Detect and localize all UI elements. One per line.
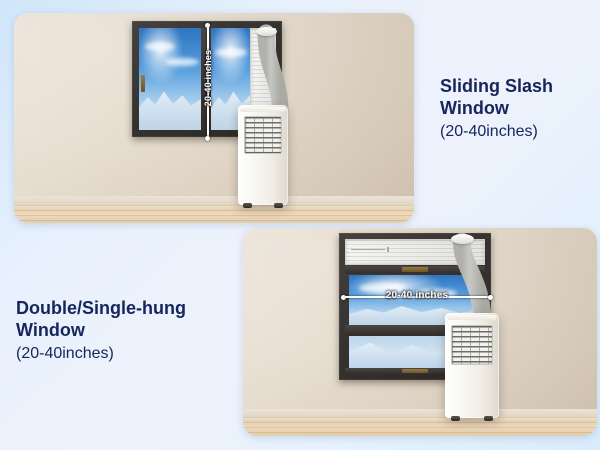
caption-line-2: Window — [440, 98, 596, 120]
floor — [243, 417, 597, 436]
cloud-icon — [165, 58, 199, 66]
mountain-silhouette — [139, 83, 201, 130]
floor — [14, 205, 414, 223]
caption-sliding-slash-window: Sliding Slash Window (20-40inches) — [440, 76, 596, 141]
window-pane-left — [139, 28, 201, 130]
dimension-label: 20-40 inches — [341, 290, 493, 301]
caption-line-1: Sliding Slash — [440, 76, 596, 98]
ac-top-panel — [240, 107, 286, 112]
panel-sliding-slash-window: 20-40 inches — [14, 13, 414, 223]
ac-foot — [484, 416, 493, 421]
ac-top-panel — [447, 315, 497, 320]
portable-air-conditioner — [238, 105, 288, 205]
caption-line-1: Double/Single-hung — [16, 298, 241, 320]
caption-double-single-hung-window: Double/Single-hung Window (20-40inches) — [16, 298, 241, 363]
ac-foot — [274, 203, 283, 208]
hose-collar-window — [451, 234, 474, 244]
dimension-endpoint-bottom — [205, 136, 210, 141]
window-handle-left — [141, 75, 145, 92]
cloud-icon — [145, 42, 175, 51]
ac-foot — [243, 203, 252, 208]
dimension-label: 20-40 inches — [203, 47, 213, 109]
window-handle-lower — [402, 369, 428, 373]
dimension-vertical-sliding: 20-40 inches — [200, 23, 216, 141]
hose-collar-window — [256, 27, 277, 36]
dimension-horizontal-hung: 20-40 inches — [341, 290, 493, 304]
window-handle-upper — [402, 267, 428, 272]
ac-foot — [451, 416, 460, 421]
caption-line-3: (20-40inches) — [16, 344, 241, 364]
caption-line-2: Window — [16, 320, 241, 342]
screenshot-stage: 20-40 inches Sliding Slash Window (20-40… — [0, 0, 600, 450]
cloud-icon — [215, 48, 247, 57]
caption-line-3: (20-40inches) — [440, 122, 596, 142]
panel-double-single-hung-window: 20-40 inches — [243, 228, 597, 436]
ac-grille — [244, 116, 282, 154]
portable-air-conditioner — [445, 313, 499, 418]
ac-grille — [451, 325, 493, 365]
